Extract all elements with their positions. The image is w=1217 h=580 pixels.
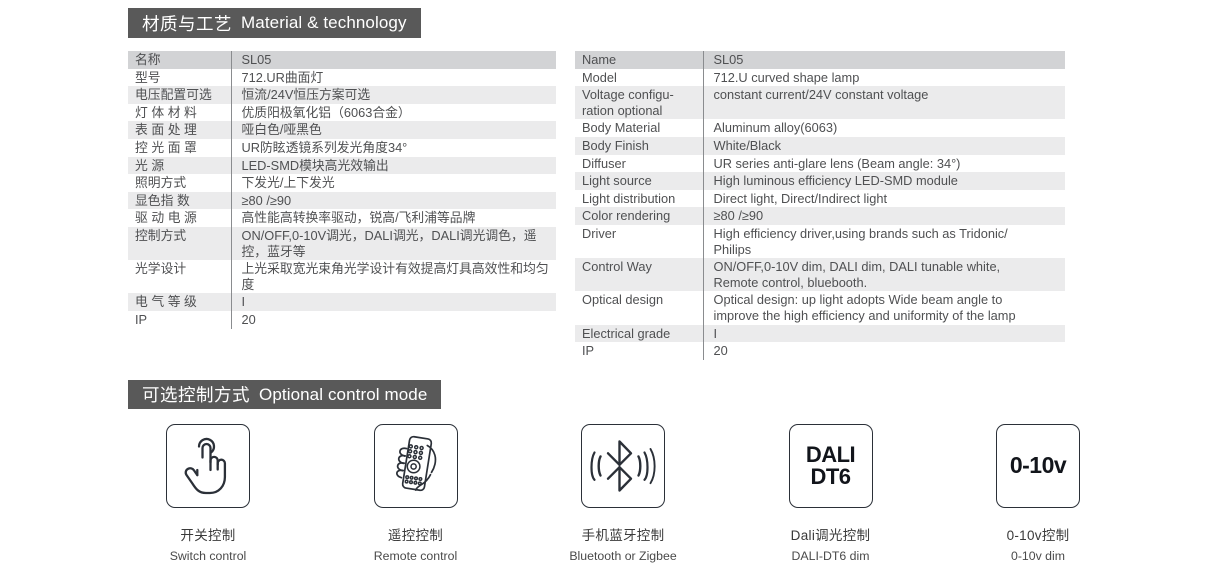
spec-row-key: Control Way bbox=[575, 258, 703, 291]
spec-row-value: 712.UR曲面灯 bbox=[231, 69, 556, 87]
section-header-material: 材质与工艺 Material & technology bbox=[128, 8, 421, 38]
spec-row-key: Body Material bbox=[575, 119, 703, 137]
spec-row-value: 下发光/上下发光 bbox=[231, 174, 556, 192]
spec-row: 电压配置可选恒流/24V恒压方案可选 bbox=[128, 86, 556, 104]
spec-row-value: 20 bbox=[703, 342, 1065, 360]
spec-row-key: 灯 体 材 料 bbox=[128, 104, 231, 122]
spec-row: Light distributionDirect light, Direct/I… bbox=[575, 190, 1065, 208]
bluetooth-wave-icon bbox=[581, 424, 665, 508]
spec-table-chinese-body: 名称SL05型号712.UR曲面灯电压配置可选恒流/24V恒压方案可选灯 体 材… bbox=[128, 51, 556, 329]
section-header-control-mode-cn: 可选控制方式 bbox=[142, 382, 250, 407]
control-mode-label-cn: 开关控制 bbox=[180, 524, 235, 544]
spec-row-value: Optical design: up light adopts Wide bea… bbox=[703, 291, 1065, 324]
spec-row-value: ON/OFF,0-10V dim, DALI dim, DALI tunable… bbox=[703, 258, 1065, 291]
spec-row-key: 电 气 等 级 bbox=[128, 293, 231, 311]
spec-row-value: ≥80 /≥90 bbox=[703, 207, 1065, 225]
section-header-material-en: Material & technology bbox=[241, 13, 407, 33]
spec-row-value: ON/OFF,0-10V调光，DALI调光，DALI调光调色，遥控，蓝牙等 bbox=[231, 227, 556, 260]
spec-table-english: NameSL05Model712.U curved shape lampVolt… bbox=[575, 51, 1065, 360]
control-mode-list: 开关控制Switch control 遥控控制Remote control 手机… bbox=[128, 424, 1118, 574]
remote-in-hand-icon bbox=[374, 424, 458, 508]
control-mode-item[interactable]: 遥控控制Remote control bbox=[336, 424, 496, 574]
spec-row-key: 型号 bbox=[128, 69, 231, 87]
spec-row: Color rendering≥80 /≥90 bbox=[575, 207, 1065, 225]
control-mode-label-cn: 0-10v控制 bbox=[1007, 524, 1070, 544]
spec-row: 显色指 数≥80 /≥90 bbox=[128, 192, 556, 210]
section-header-control-mode: 可选控制方式 Optional control mode bbox=[128, 380, 441, 409]
spec-row-value: High efficiency driver,using brands such… bbox=[703, 225, 1065, 258]
spec-row-value: SL05 bbox=[703, 51, 1065, 69]
spec-row: 表 面 处 理哑白色/哑黑色 bbox=[128, 121, 556, 139]
spec-row-value: 高性能高转换率驱动，锐高/飞利浦等品牌 bbox=[231, 209, 556, 227]
spec-row: Light sourceHigh luminous efficiency LED… bbox=[575, 172, 1065, 190]
spec-row-key: 显色指 数 bbox=[128, 192, 231, 210]
section-header-material-cn: 材质与工艺 bbox=[142, 11, 232, 36]
spec-row: Model712.U curved shape lamp bbox=[575, 69, 1065, 87]
spec-row-value: High luminous efficiency LED-SMD module bbox=[703, 172, 1065, 190]
spec-row-value: 优质阳极氧化铝（6063合金） bbox=[231, 104, 556, 122]
spec-row-key: Name bbox=[575, 51, 703, 69]
spec-row-key: 名称 bbox=[128, 51, 231, 69]
spec-row-key: Light distribution bbox=[575, 190, 703, 208]
spec-row: 型号712.UR曲面灯 bbox=[128, 69, 556, 87]
hand-tap-icon bbox=[166, 424, 250, 508]
spec-row-value: White/Black bbox=[703, 137, 1065, 155]
spec-row: IP20 bbox=[575, 342, 1065, 360]
spec-row-value: 20 bbox=[231, 311, 556, 329]
spec-row-value: SL05 bbox=[231, 51, 556, 69]
control-mode-label-cn: Dali调光控制 bbox=[791, 524, 871, 544]
spec-row: Optical designOptical design: up light a… bbox=[575, 291, 1065, 324]
dali-dt6-text-icon: DALI DT6 bbox=[789, 424, 873, 508]
spec-row: DriverHigh efficiency driver,using brand… bbox=[575, 225, 1065, 258]
spec-row-key: 控制方式 bbox=[128, 227, 231, 260]
spec-row: 控制方式ON/OFF,0-10V调光，DALI调光，DALI调光调色，遥控，蓝牙… bbox=[128, 227, 556, 260]
control-mode-box-text: 0-10v bbox=[1010, 454, 1066, 477]
spec-row-key: 驱 动 电 源 bbox=[128, 209, 231, 227]
spec-row: 灯 体 材 料优质阳极氧化铝（6063合金） bbox=[128, 104, 556, 122]
spec-row-key: Driver bbox=[575, 225, 703, 258]
spec-row-key: 控 光 面 罩 bbox=[128, 139, 231, 157]
spec-row: Body MaterialAluminum alloy(6063) bbox=[575, 119, 1065, 137]
spec-row-key: 表 面 处 理 bbox=[128, 121, 231, 139]
spec-row-value: Direct light, Direct/Indirect light bbox=[703, 190, 1065, 208]
spec-row-key: Diffuser bbox=[575, 155, 703, 173]
control-mode-label-en: DALI-DT6 dim bbox=[792, 549, 870, 563]
control-mode-label-en: 0-10v dim bbox=[1011, 549, 1065, 563]
spec-row: IP20 bbox=[128, 311, 556, 329]
section-header-control-mode-en: Optional control mode bbox=[259, 385, 427, 405]
spec-table-chinese: 名称SL05型号712.UR曲面灯电压配置可选恒流/24V恒压方案可选灯 体 材… bbox=[128, 51, 556, 329]
spec-row-value: UR防眩透镜系列发光角度34° bbox=[231, 139, 556, 157]
spec-row-key: IP bbox=[575, 342, 703, 360]
spec-row-key: Light source bbox=[575, 172, 703, 190]
spec-row: 名称SL05 bbox=[128, 51, 556, 69]
spec-row: Control WayON/OFF,0-10V dim, DALI dim, D… bbox=[575, 258, 1065, 291]
spec-row-key: Body Finish bbox=[575, 137, 703, 155]
spec-table-english-body: NameSL05Model712.U curved shape lampVolt… bbox=[575, 51, 1065, 360]
spec-row-value: 哑白色/哑黑色 bbox=[231, 121, 556, 139]
spec-row-value: LED-SMD模块高光效输出 bbox=[231, 157, 556, 175]
spec-row-key: IP bbox=[128, 311, 231, 329]
spec-row-key: 光学设计 bbox=[128, 260, 231, 293]
control-mode-item[interactable]: 0-10v0-10v控制0-10v dim bbox=[958, 424, 1118, 574]
control-mode-item[interactable]: 开关控制Switch control bbox=[128, 424, 288, 574]
spec-row-key: 光 源 bbox=[128, 157, 231, 175]
spec-row: Voltage configu- ration optionalconstant… bbox=[575, 86, 1065, 119]
spec-row-value: 712.U curved shape lamp bbox=[703, 69, 1065, 87]
control-mode-item[interactable]: 手机蓝牙控制Bluetooth or Zigbee bbox=[543, 424, 703, 574]
spec-row: 照明方式下发光/上下发光 bbox=[128, 174, 556, 192]
spec-row: Electrical gradeI bbox=[575, 325, 1065, 343]
spec-row: 控 光 面 罩UR防眩透镜系列发光角度34° bbox=[128, 139, 556, 157]
spec-row-value: I bbox=[231, 293, 556, 311]
spec-row: 电 气 等 级I bbox=[128, 293, 556, 311]
control-mode-item[interactable]: DALI DT6Dali调光控制DALI-DT6 dim bbox=[751, 424, 911, 574]
spec-row-value: ≥80 /≥90 bbox=[231, 192, 556, 210]
spec-row: DiffuserUR series anti-glare lens (Beam … bbox=[575, 155, 1065, 173]
spec-row-key: Color rendering bbox=[575, 207, 703, 225]
spec-row-key: 电压配置可选 bbox=[128, 86, 231, 104]
spec-row-value: I bbox=[703, 325, 1065, 343]
control-mode-label-en: Bluetooth or Zigbee bbox=[569, 549, 676, 563]
control-mode-label-cn: 遥控控制 bbox=[388, 524, 443, 544]
spec-row-value: constant current/24V constant voltage bbox=[703, 86, 1065, 119]
spec-row: Body FinishWhite/Black bbox=[575, 137, 1065, 155]
spec-row-key: 照明方式 bbox=[128, 174, 231, 192]
spec-row: 光学设计上光采取宽光束角光学设计有效提高灯具高效性和均匀度 bbox=[128, 260, 556, 293]
spec-row-key: Optical design bbox=[575, 291, 703, 324]
spec-row-value: 上光采取宽光束角光学设计有效提高灯具高效性和均匀度 bbox=[231, 260, 556, 293]
spec-row-value: 恒流/24V恒压方案可选 bbox=[231, 86, 556, 104]
spec-row-key: Voltage configu- ration optional bbox=[575, 86, 703, 119]
spec-row-key: Electrical grade bbox=[575, 325, 703, 343]
control-mode-label-en: Remote control bbox=[374, 549, 457, 563]
spec-row: NameSL05 bbox=[575, 51, 1065, 69]
zero-ten-volt-text-icon: 0-10v bbox=[996, 424, 1080, 508]
spec-row-value: UR series anti-glare lens (Beam angle: 3… bbox=[703, 155, 1065, 173]
spec-row-key: Model bbox=[575, 69, 703, 87]
spec-row: 驱 动 电 源高性能高转换率驱动，锐高/飞利浦等品牌 bbox=[128, 209, 556, 227]
control-mode-label-cn: 手机蓝牙控制 bbox=[582, 524, 665, 544]
spec-row-value: Aluminum alloy(6063) bbox=[703, 119, 1065, 137]
control-mode-box-text: DALI DT6 bbox=[806, 444, 855, 489]
spec-row: 光 源LED-SMD模块高光效输出 bbox=[128, 157, 556, 175]
control-mode-label-en: Switch control bbox=[170, 549, 247, 563]
